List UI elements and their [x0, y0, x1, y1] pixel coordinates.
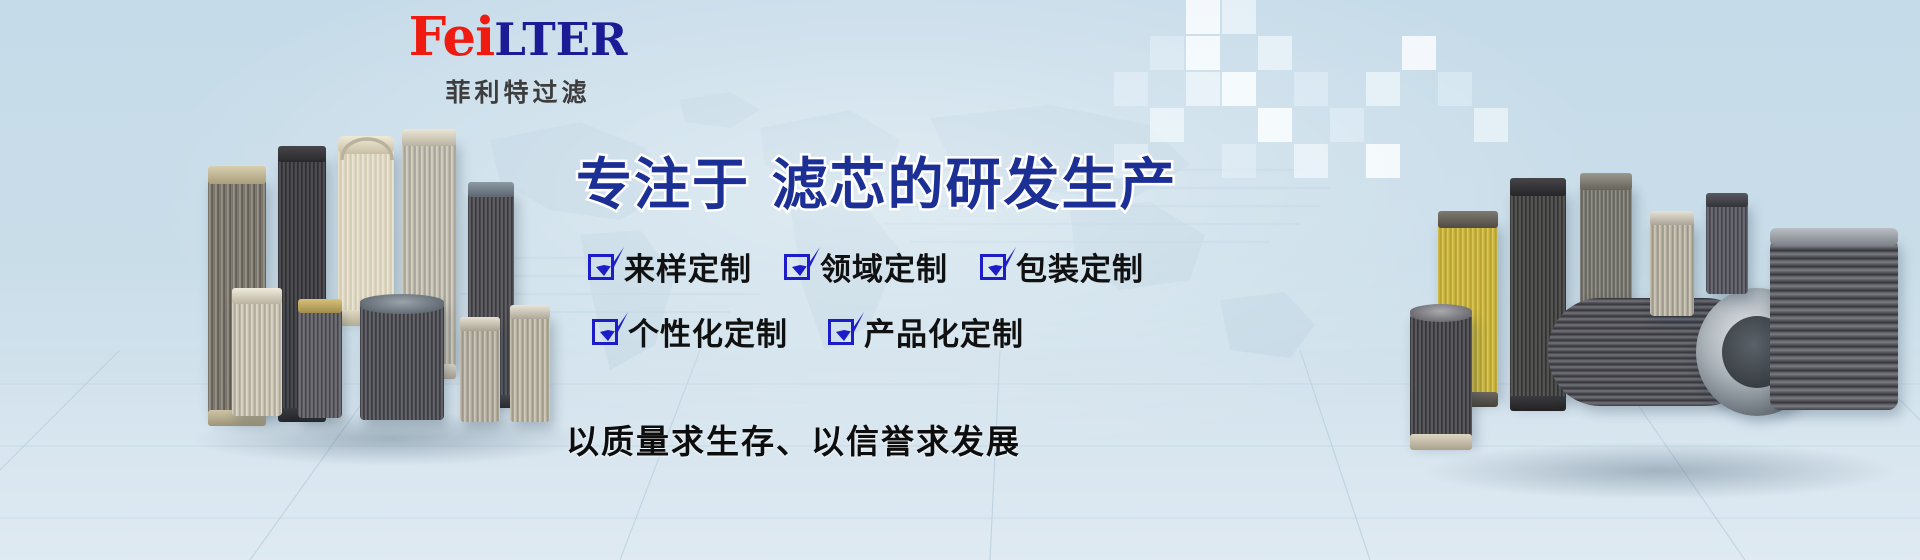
feature-item-lai-yang: 来样定制	[588, 244, 752, 289]
hydraulic-filter-cartridges-left	[180, 130, 600, 460]
feature-label: 领域定制	[820, 244, 948, 289]
filter-cartridge	[360, 302, 444, 420]
feature-list: 来样定制 领域定制 包装定制 个性化定制	[588, 244, 1144, 354]
checkbox-checked-icon	[592, 319, 618, 345]
promo-banner: FeiLTER 菲利特过滤 专注于 滤芯的研发生产 来样定制 领域定制	[0, 0, 1920, 560]
filter-handle-icon	[336, 126, 398, 166]
checkbox-checked-icon	[784, 254, 810, 280]
logo-text-lter: LTER	[494, 13, 627, 66]
logo-text-fei: Fei	[409, 6, 495, 68]
checkbox-checked-icon	[588, 254, 614, 280]
company-logo: FeiLTER 菲利特过滤	[393, 8, 643, 109]
feature-row-1: 来样定制 领域定制 包装定制	[588, 244, 1144, 289]
filter-cartridge	[232, 298, 282, 416]
feature-label: 个性化定制	[628, 309, 788, 354]
hydraulic-filter-cartridges-right	[1400, 180, 1920, 500]
filter-cartridge	[338, 148, 394, 316]
filter-cartridge	[1650, 220, 1694, 316]
logo-wordmark: FeiLTER	[393, 8, 643, 69]
filter-cartridge	[1706, 202, 1748, 294]
feature-item-ge-xing-hua: 个性化定制	[592, 309, 788, 354]
feature-item-chan-pin-hua: 产品化定制	[828, 309, 1024, 354]
filter-cartridge	[1410, 314, 1472, 442]
filter-cartridge	[460, 326, 500, 422]
feature-label: 产品化定制	[864, 309, 1024, 354]
headline: 专注于 滤芯的研发生产	[576, 140, 1178, 221]
checkbox-checked-icon	[980, 254, 1006, 280]
bottom-slogan: 以质量求生存、以信誉求发展	[566, 415, 1021, 463]
filter-cartridge	[1770, 238, 1898, 410]
feature-row-2: 个性化定制 产品化定制	[588, 309, 1144, 354]
checkbox-checked-icon	[828, 319, 854, 345]
feature-item-bao-zhuang: 包装定制	[980, 244, 1144, 289]
feature-item-ling-yu: 领域定制	[784, 244, 948, 289]
logo-chinese-name: 菲利特过滤	[393, 73, 643, 109]
filter-cartridge	[298, 308, 342, 418]
feature-label: 来样定制	[624, 244, 752, 289]
filter-cartridge	[510, 314, 550, 422]
feature-label: 包装定制	[1016, 244, 1144, 289]
